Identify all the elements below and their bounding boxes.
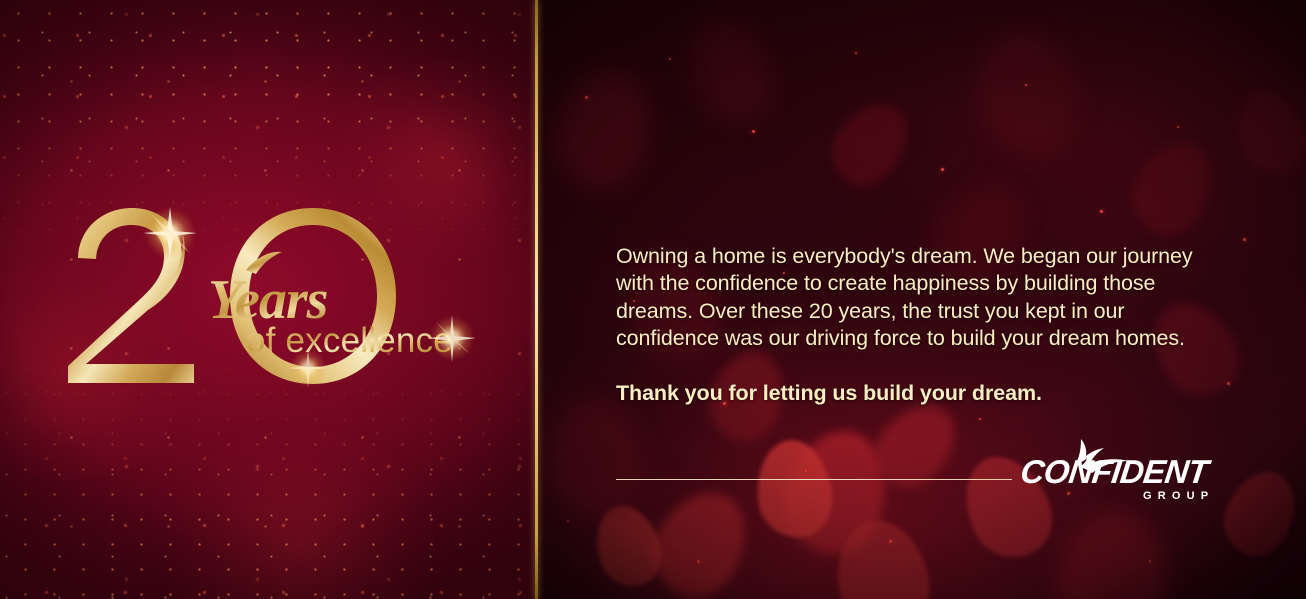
svg-text:of excellence: of excellence [246, 321, 453, 360]
anniversary-banner: Years of excellence [0, 0, 1306, 599]
logo-wordmark: CONFIDENT [1018, 454, 1213, 491]
anniversary-emblem: Years of excellence [60, 200, 500, 400]
emblem-subtitle: of excellence [246, 321, 453, 360]
body-paragraph: Owning a home is everybody's dream. We b… [616, 243, 1231, 353]
horizontal-rule [616, 479, 1012, 480]
left-panel: Years of excellence [0, 0, 537, 599]
thank-you-line: Thank you for letting us build your drea… [616, 380, 1042, 407]
confident-group-logo: CONFIDENT GROUP [1025, 437, 1240, 505]
sparkle-icon [289, 349, 327, 387]
logo-sub-wordmark: GROUP [1143, 490, 1214, 502]
svg-text:GROUP: GROUP [1143, 490, 1214, 502]
glow-blob [150, 430, 450, 599]
gold-vertical-divider [535, 0, 538, 599]
svg-text:CONFIDENT: CONFIDENT [1018, 454, 1213, 491]
emblem-script-years: Years [208, 252, 328, 331]
right-panel: Owning a home is everybody's dream. We b… [537, 0, 1306, 599]
message-content: Owning a home is everybody's dream. We b… [616, 0, 1256, 599]
